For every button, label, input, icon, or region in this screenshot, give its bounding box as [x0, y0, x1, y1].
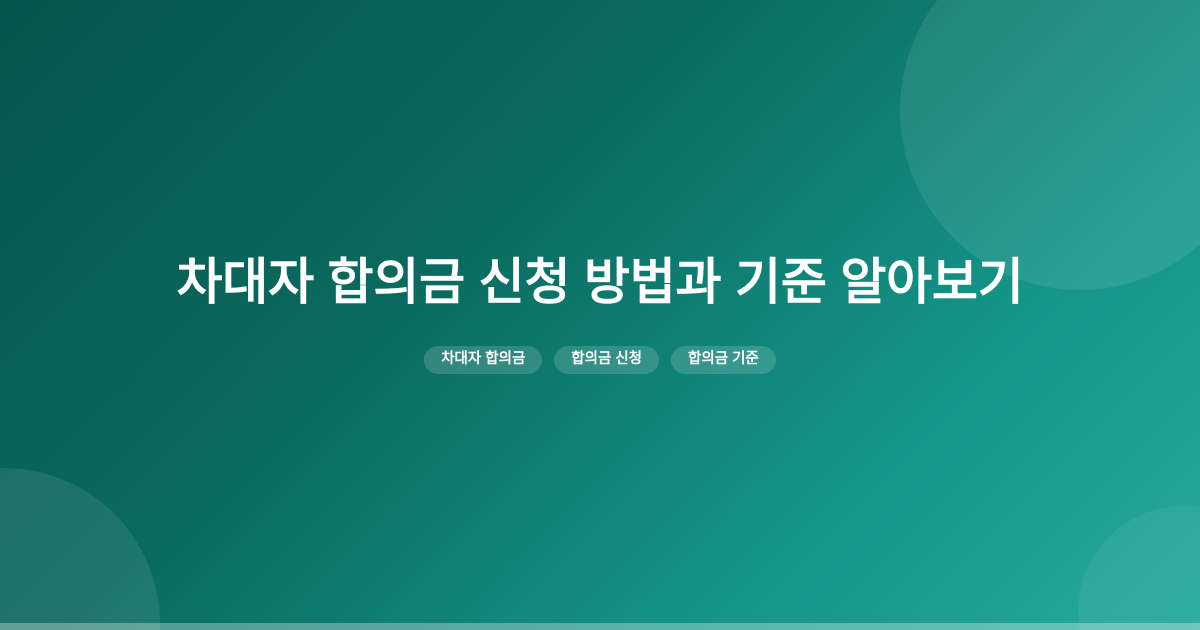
tag-chip[interactable]: 합의금 기준 [671, 346, 776, 374]
bottom-accent-bar [0, 623, 1200, 630]
tag-chip[interactable]: 차대자 합의금 [424, 346, 542, 374]
page-title: 차대자 합의금 신청 방법과 기준 알아보기 [176, 251, 1023, 314]
tag-chip[interactable]: 합의금 신청 [554, 346, 659, 374]
card-content: 차대자 합의금 신청 방법과 기준 알아보기 차대자 합의금 합의금 신청 합의… [0, 0, 1200, 630]
thumbnail-card: 차대자 합의금 신청 방법과 기준 알아보기 차대자 합의금 합의금 신청 합의… [0, 0, 1200, 630]
tag-list: 차대자 합의금 합의금 신청 합의금 기준 [424, 346, 776, 374]
